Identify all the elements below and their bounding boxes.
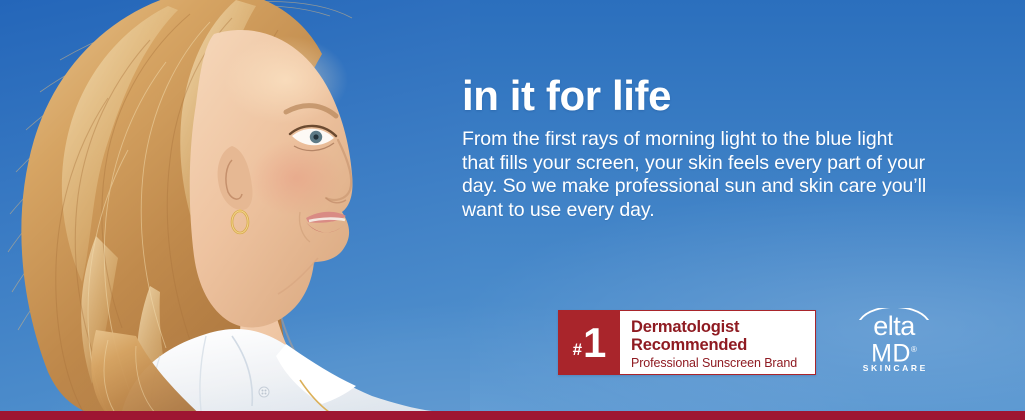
logo-wordmark-elta: elta	[846, 312, 942, 340]
body-line-2: that fills your screen, your skin feels …	[462, 152, 962, 176]
dermatologist-recommended-badge: # 1 Dermatologist Recommended Profession…	[558, 310, 816, 375]
badge-text-panel: Dermatologist Recommended Professional S…	[620, 310, 816, 375]
hash-symbol: #	[573, 341, 582, 358]
headline: in it for life	[462, 72, 962, 119]
rank-number: 1	[583, 322, 605, 364]
body-line-1: From the first rays of morning light to …	[462, 128, 962, 152]
copy-block: in it for life From the first rays of mo…	[462, 72, 962, 222]
body-line-3: day. So we make professional sun and ski…	[462, 175, 962, 199]
badge-line-subtitle: Professional Sunscreen Brand	[631, 355, 815, 371]
badge-line-recommended: Recommended	[631, 336, 815, 354]
logo-wordmark-md: MD®	[846, 337, 942, 366]
portrait-photo	[0, 0, 470, 412]
logo-tagline-skincare: SKINCARE	[846, 363, 942, 373]
badge-line-dermatologist: Dermatologist	[631, 318, 815, 336]
registered-mark: ®	[911, 345, 917, 354]
eltamd-brand-banner: in it for life From the first rays of mo…	[0, 0, 1025, 420]
body-line-4: want to use every day.	[462, 199, 962, 223]
eltamd-logo: elta MD® SKINCARE	[846, 308, 942, 376]
badge-rank-panel: # 1	[558, 310, 620, 375]
bottom-accent-bar	[0, 411, 1025, 420]
body-copy: From the first rays of morning light to …	[462, 128, 962, 222]
